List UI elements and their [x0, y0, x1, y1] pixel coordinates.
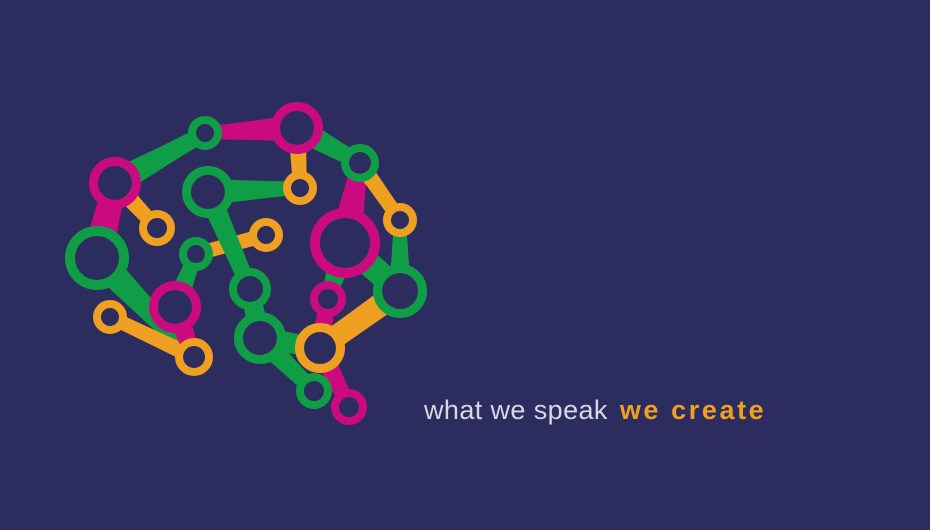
brain-network-logo: [60, 95, 440, 425]
logo-node-hole: [349, 152, 371, 174]
logo-node-hole: [391, 211, 409, 229]
logo-node-hole: [243, 321, 277, 355]
logo-node-hole: [183, 346, 205, 368]
logo-node-hole: [382, 273, 418, 309]
logo-node-hole: [339, 397, 359, 417]
logo-node-hole: [320, 218, 370, 268]
logo-node-hole: [304, 381, 324, 401]
logo-node-hole: [187, 245, 205, 263]
splash-canvas: what we speak we create: [0, 0, 930, 530]
logo-node-hole: [158, 290, 192, 324]
logo-node-hole: [257, 226, 275, 244]
tagline: what we speak we create: [424, 392, 766, 428]
logo-node-hole: [191, 175, 225, 209]
logo-node-hole: [304, 332, 336, 364]
logo-node-hole: [280, 111, 314, 145]
logo-node-hole: [147, 218, 167, 238]
logo-node-hole: [196, 124, 214, 142]
logo-node-hole: [101, 308, 119, 326]
logo-node-hole: [318, 289, 338, 309]
logo-node-hole: [237, 276, 263, 302]
tagline-light-text: what we speak: [424, 395, 608, 426]
brain-network-svg: [60, 95, 440, 425]
tagline-accent-text: we create: [620, 395, 766, 426]
logo-node-hole: [75, 236, 119, 280]
logo-node-hole: [98, 166, 132, 200]
logo-node-hole: [291, 179, 309, 197]
